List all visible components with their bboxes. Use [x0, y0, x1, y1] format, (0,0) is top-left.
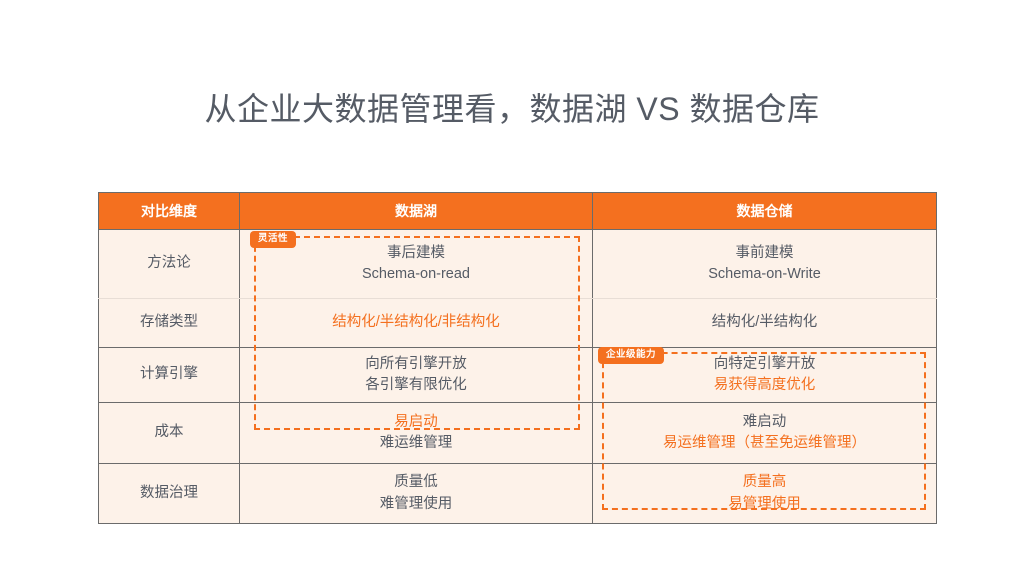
cell-lake-cost: 易启动 难运维管理	[240, 403, 593, 464]
cell-line: 各引擎有限优化	[240, 375, 592, 396]
cell-line: 难运维管理	[240, 433, 592, 454]
cell-line: 事前建模	[593, 243, 936, 264]
table-row: 计算引擎 向所有引擎开放 各引擎有限优化 向特定引擎开放 易获得高度优化	[99, 348, 937, 403]
cell-lake-data-governance: 质量低 难管理使用	[240, 464, 593, 524]
table-body: 方法论 事后建模 Schema-on-read 事前建模 Schema-on-W…	[99, 230, 937, 524]
cell-lake-compute-engine: 向所有引擎开放 各引擎有限优化	[240, 348, 593, 403]
cell-line: 质量低	[240, 472, 592, 493]
row-label-methodology: 方法论	[99, 230, 240, 299]
row-label-data-governance: 数据治理	[99, 464, 240, 524]
row-label-cost: 成本	[99, 403, 240, 464]
table-row: 数据治理 质量低 难管理使用 质量高 易管理使用	[99, 464, 937, 524]
cell-line: 结构化/半结构化/非结构化	[240, 312, 592, 333]
cell-warehouse-methodology: 事前建模 Schema-on-Write	[593, 230, 937, 299]
badge-enterprise-capability: 企业级能力	[598, 347, 664, 364]
cell-line: 质量高	[593, 472, 936, 493]
column-header-dimension: 对比维度	[99, 193, 240, 230]
cell-line: Schema-on-Write	[593, 264, 936, 285]
cell-warehouse-storage-type: 结构化/半结构化	[593, 299, 937, 348]
table-row: 成本 易启动 难运维管理 难启动 易运维管理（甚至免运维管理）	[99, 403, 937, 464]
row-label-compute-engine: 计算引擎	[99, 348, 240, 403]
cell-line: Schema-on-read	[240, 264, 592, 285]
cell-line: 易获得高度优化	[593, 375, 936, 396]
cell-line: 结构化/半结构化	[593, 312, 936, 333]
table-header-row: 对比维度 数据湖 数据仓储	[99, 193, 937, 230]
cell-lake-storage-type: 结构化/半结构化/非结构化	[240, 299, 593, 348]
comparison-table: 对比维度 数据湖 数据仓储 方法论 事后建模 Schema-on-read 事前…	[98, 192, 937, 524]
table-row: 方法论 事后建模 Schema-on-read 事前建模 Schema-on-W…	[99, 230, 937, 299]
table-row: 存储类型 结构化/半结构化/非结构化 结构化/半结构化	[99, 299, 937, 348]
column-header-data-warehouse: 数据仓储	[593, 193, 937, 230]
row-label-storage-type: 存储类型	[99, 299, 240, 348]
page-title: 从企业大数据管理看，数据湖 VS 数据仓库	[0, 84, 1024, 130]
cell-line: 难启动	[593, 412, 936, 433]
cell-line: 易启动	[240, 412, 592, 433]
cell-line: 向所有引擎开放	[240, 354, 592, 375]
cell-warehouse-cost: 难启动 易运维管理（甚至免运维管理）	[593, 403, 937, 464]
badge-flexibility: 灵活性	[250, 231, 296, 248]
cell-line: 易运维管理（甚至免运维管理）	[593, 433, 936, 454]
cell-line: 易管理使用	[593, 494, 936, 515]
cell-warehouse-data-governance: 质量高 易管理使用	[593, 464, 937, 524]
cell-line: 难管理使用	[240, 494, 592, 515]
table-header: 对比维度 数据湖 数据仓储	[99, 193, 937, 230]
column-header-data-lake: 数据湖	[240, 193, 593, 230]
